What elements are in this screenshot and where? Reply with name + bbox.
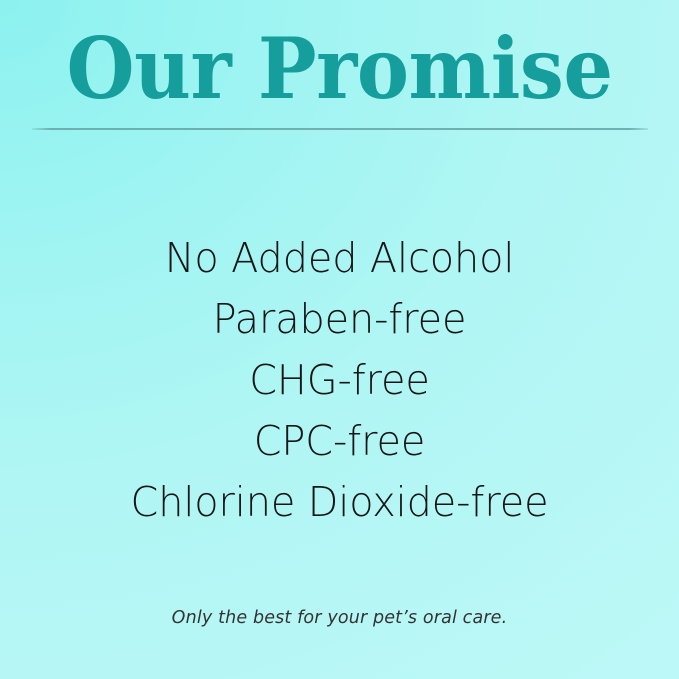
title-divider xyxy=(32,128,648,130)
promise-list-item-cpc-free: CPC-free xyxy=(10,411,669,472)
title-block: Our Promise xyxy=(0,26,679,112)
our-promise-card: Our Promise No Added Alcohol Paraben-fre… xyxy=(0,0,679,679)
footer-tagline: Only the best for your pet’s oral care. xyxy=(0,608,679,628)
promise-list-item-chlorine-dioxide-free: Chlorine Dioxide-free xyxy=(10,472,669,533)
promise-list: No Added Alcohol Paraben-free CHG-free C… xyxy=(0,228,679,533)
promise-list-item-no-added-alcohol: No Added Alcohol xyxy=(10,228,669,289)
promise-list-item-chg-free: CHG-free xyxy=(10,350,669,411)
page-title: Our Promise xyxy=(66,26,612,112)
promise-list-item-paraben-free: Paraben-free xyxy=(10,289,669,350)
